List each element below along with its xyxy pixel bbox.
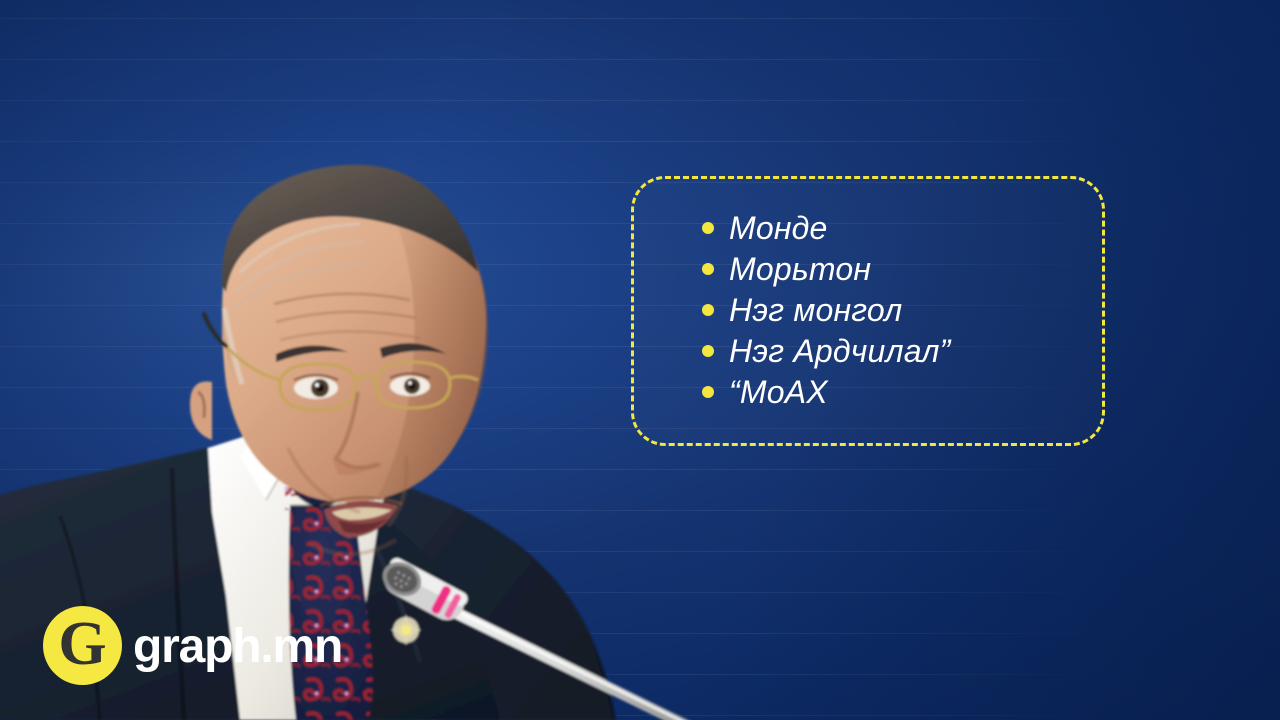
party-name-label: Морьтон — [729, 253, 871, 285]
logo-letter: G — [58, 613, 106, 675]
party-names-list: Монде Морьтон Нэг монгол Нэг Ардчилал” “… — [702, 207, 951, 412]
party-name-label: Нэг Ардчилал” — [729, 335, 951, 367]
logo-wordmark: graph.mn — [133, 623, 342, 671]
party-name-label: “МоАХ — [729, 376, 828, 408]
bullet-dot-icon — [702, 386, 714, 398]
list-item: Нэг монгол — [702, 289, 951, 330]
bullet-dot-icon — [702, 222, 714, 234]
slide-canvas: Монде Морьтон Нэг монгол Нэг Ардчилал” “… — [0, 0, 1280, 720]
bullet-dot-icon — [702, 304, 714, 316]
list-item: Нэг Ардчилал” — [702, 330, 951, 371]
circle-g-logo-icon: G — [43, 606, 122, 685]
list-item: “МоАХ — [702, 371, 951, 412]
brand-logo: G graph.mn — [43, 606, 342, 685]
bullet-dot-icon — [702, 263, 714, 275]
list-item: Морьтон — [702, 248, 951, 289]
party-name-label: Монде — [729, 212, 828, 244]
party-names-callout: Монде Морьтон Нэг монгол Нэг Ардчилал” “… — [631, 176, 1105, 446]
bullet-dot-icon — [702, 345, 714, 357]
list-item: Монде — [702, 207, 951, 248]
party-name-label: Нэг монгол — [729, 294, 902, 326]
